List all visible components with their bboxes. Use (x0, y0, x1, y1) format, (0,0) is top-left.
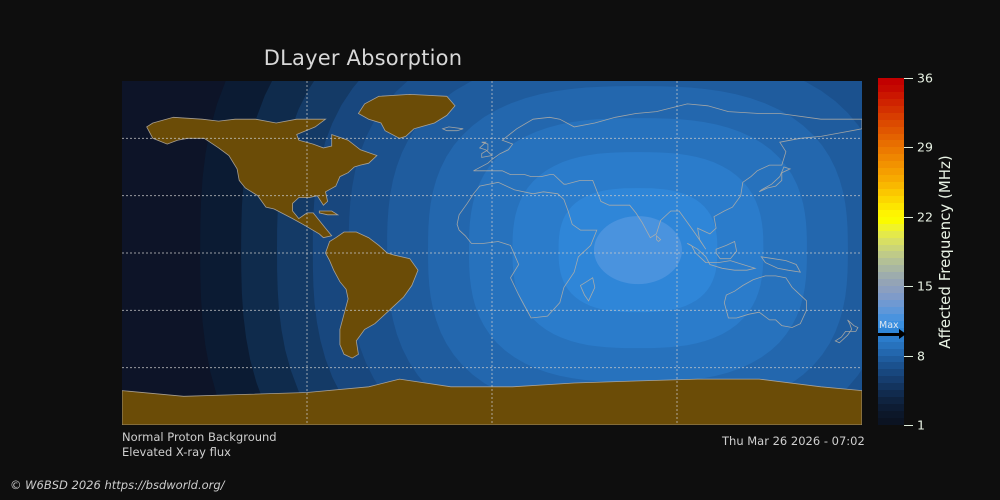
colorbar-segment (878, 356, 904, 363)
xray-flux-note: Elevated X-ray flux (122, 445, 231, 459)
colorbar-segment (878, 404, 904, 411)
colorbar-segment (878, 362, 904, 369)
colorbar-tick-mark (904, 356, 913, 357)
colorbar-segment (878, 189, 904, 196)
colorbar-segment (878, 286, 904, 293)
absorption-peak-core (594, 216, 682, 284)
world-absorption-map[interactable] (122, 81, 862, 425)
colorbar-segment (878, 113, 904, 120)
max-marker-label: Max (879, 321, 899, 331)
colorbar-segment (878, 224, 904, 231)
colorbar-gradient (878, 78, 904, 425)
dlayer-absorption-page: DLayer Absorption Normal Proton Backgrou… (0, 0, 1000, 500)
colorbar-segment (878, 245, 904, 252)
colorbar-segment (878, 411, 904, 418)
colorbar-segment (878, 147, 904, 154)
colorbar-segment (878, 265, 904, 272)
max-arrow-icon (878, 333, 900, 336)
map-canvas (122, 81, 862, 425)
colorbar-segment (878, 99, 904, 106)
colorbar-tick-mark (904, 78, 913, 79)
colorbar-segment (878, 251, 904, 258)
colorbar-tick-label: 8 (917, 348, 925, 363)
colorbar-segment (878, 376, 904, 383)
colorbar-segment (878, 349, 904, 356)
colorbar-axis-label: Affected Frequency (MHz) (930, 78, 960, 425)
colorbar-segment (878, 154, 904, 161)
colorbar-segment (878, 140, 904, 147)
colorbar-segment (878, 134, 904, 141)
colorbar-segment (878, 369, 904, 376)
colorbar-tick-mark (904, 217, 913, 218)
colorbar-tick-mark (904, 147, 913, 148)
colorbar-segment (878, 120, 904, 127)
colorbar-segment (878, 78, 904, 85)
colorbar-segment (878, 127, 904, 134)
colorbar-segment (878, 390, 904, 397)
colorbar-tick-mark (904, 425, 913, 426)
colorbar-segment (878, 85, 904, 92)
colorbar-segment (878, 210, 904, 217)
colorbar-segment (878, 175, 904, 182)
colorbar-segment (878, 161, 904, 168)
colorbar-segment (878, 418, 904, 425)
colorbar-segment (878, 307, 904, 314)
colorbar-segment (878, 300, 904, 307)
colorbar-segment (878, 383, 904, 390)
colorbar-segment (878, 238, 904, 245)
colorbar-segment (878, 92, 904, 99)
colorbar-segment (878, 279, 904, 286)
colorbar-segment (878, 258, 904, 265)
colorbar-segment (878, 217, 904, 224)
colorbar-segment (878, 168, 904, 175)
max-marker: Max (878, 322, 904, 348)
proton-background-note: Normal Proton Background (122, 430, 277, 444)
colorbar-segment (878, 272, 904, 279)
colorbar-tick-mark (904, 286, 913, 287)
colorbar-segment (878, 293, 904, 300)
colorbar-axis-label-text: Affected Frequency (MHz) (936, 155, 954, 349)
page-title: DLayer Absorption (0, 46, 726, 70)
colorbar-segment (878, 231, 904, 238)
copyright-notice: © W6BSD 2026 https://bsdworld.org/ (10, 478, 225, 492)
colorbar-segment (878, 106, 904, 113)
timestamp: Thu Mar 26 2026 - 07:02 (722, 434, 865, 448)
colorbar-tick-label: 1 (917, 418, 925, 433)
colorbar-segment (878, 196, 904, 203)
colorbar-segment (878, 397, 904, 404)
colorbar-segment (878, 203, 904, 210)
colorbar-segment (878, 182, 904, 189)
